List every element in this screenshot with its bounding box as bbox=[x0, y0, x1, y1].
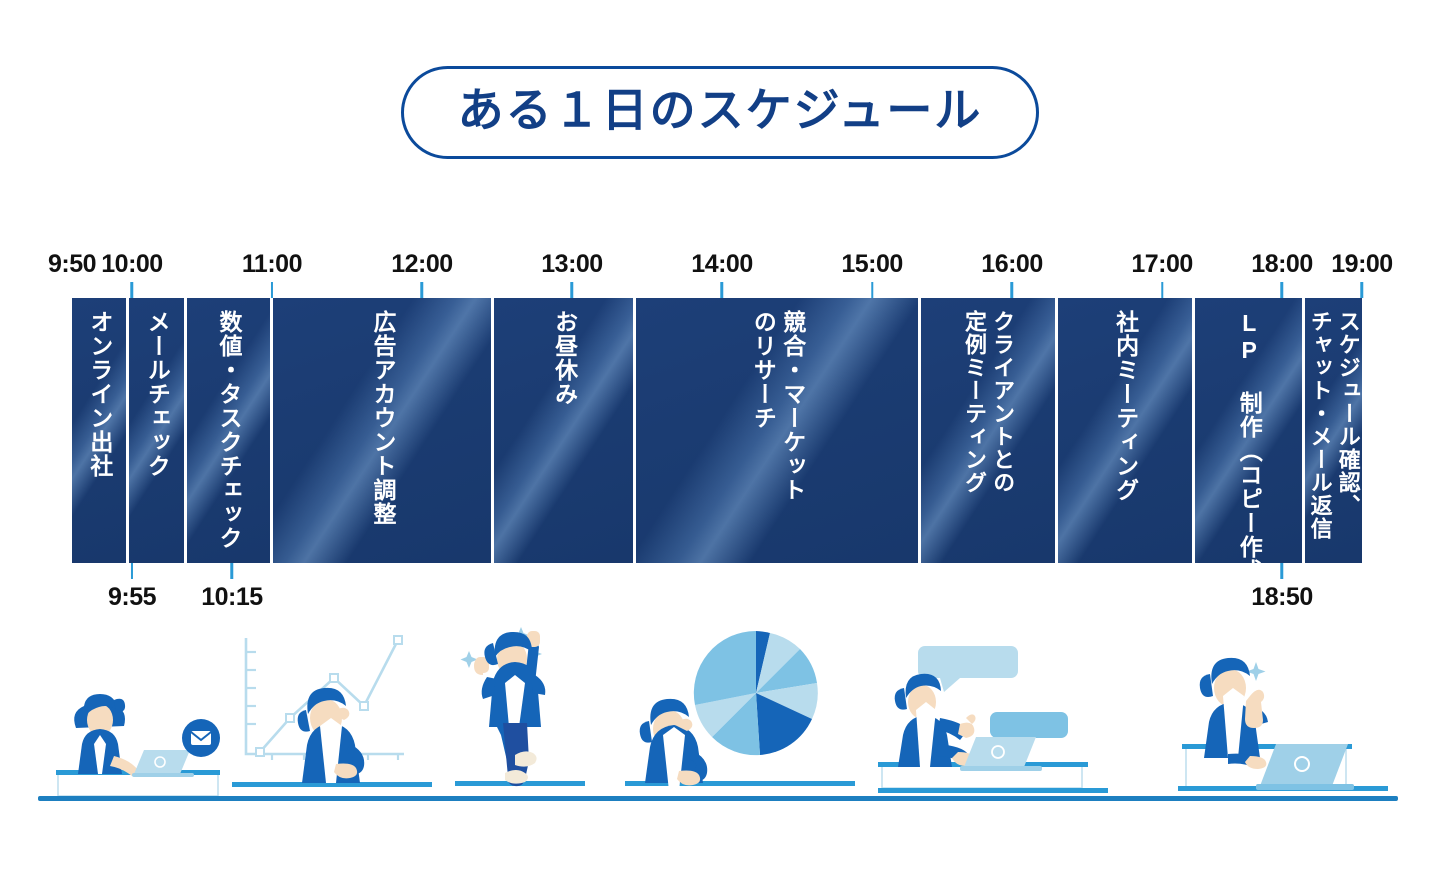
schedule-segment-ad-account[interactable]: 広告アカウント調整 bbox=[273, 298, 492, 563]
segment-label-line: スケジュール確認、 bbox=[1334, 310, 1362, 517]
schedule-segment-lunch-break[interactable]: お昼休み bbox=[494, 298, 633, 563]
segment-text-block: 競合・マーケットのリサーチ bbox=[748, 310, 807, 563]
schedule-segment-internal-meeting[interactable]: 社内ミーティング bbox=[1058, 298, 1192, 563]
time-label: 17:00 bbox=[1131, 250, 1192, 279]
schedule-segment-market-research[interactable]: 競合・マーケットのリサーチ bbox=[636, 298, 918, 563]
time-label: 9:55 bbox=[108, 583, 156, 612]
time-tick-9-50: 9:50 bbox=[48, 250, 96, 298]
segment-label-line: クライアントとの bbox=[988, 310, 1016, 494]
schedule-segment-client-meeting[interactable]: クライアントとの定例ミーティング bbox=[921, 298, 1055, 563]
time-tick-bottom-18-50: 18:50 bbox=[1251, 563, 1312, 612]
schedule-segment-task-check[interactable]: 数値・タスクチェック bbox=[187, 298, 270, 563]
time-label: 10:15 bbox=[201, 583, 262, 612]
illustration-strip bbox=[0, 628, 1440, 818]
tick-mark bbox=[131, 282, 134, 298]
tick-mark bbox=[1361, 282, 1364, 298]
segment-text-block: 社内ミーティング bbox=[1110, 310, 1139, 563]
person-with-line-chart bbox=[232, 626, 432, 796]
tick-mark bbox=[271, 282, 274, 298]
timeline-axis-top: 9:5010:0011:0012:0013:0014:0015:0016:001… bbox=[72, 240, 1362, 298]
segment-label-line: 数値・タスクチェック bbox=[214, 310, 243, 550]
person-at-laptop-with-mail-icon bbox=[48, 656, 248, 796]
tick-mark bbox=[1011, 282, 1014, 298]
tick-mark bbox=[421, 282, 424, 298]
schedule-timeline: 9:5010:0011:0012:0013:0014:0015:0016:001… bbox=[72, 240, 1362, 630]
time-label: 12:00 bbox=[391, 250, 452, 279]
time-label: 13:00 bbox=[541, 250, 602, 279]
segment-text-block: メールチェック bbox=[142, 310, 171, 563]
time-tick-bottom-9-55: 9:55 bbox=[108, 563, 156, 612]
time-tick-14-00: 14:00 bbox=[691, 250, 752, 298]
segment-text-block: 広告アカウント調整 bbox=[368, 310, 397, 563]
time-tick-17-00: 17:00 bbox=[1131, 250, 1192, 298]
person-at-laptop-with-chat-bubbles bbox=[878, 636, 1108, 796]
time-tick-16-00: 16:00 bbox=[981, 250, 1042, 298]
segment-text-block: スケジュール確認、チャット・メール返信 bbox=[1305, 310, 1361, 563]
time-tick-15-00: 15:00 bbox=[841, 250, 902, 298]
segment-label-line: お昼休み bbox=[549, 310, 578, 406]
page-title: ある１日のスケジュール bbox=[458, 85, 983, 136]
schedule-segment-mail-check[interactable]: メールチェック bbox=[129, 298, 183, 563]
schedule-segment-online-attendance[interactable]: オンライン出社 bbox=[72, 298, 126, 563]
segment-label-line: LP 制作（コピー作成） bbox=[1234, 310, 1263, 563]
tick-mark bbox=[571, 282, 574, 298]
time-tick-10-00: 10:00 bbox=[101, 250, 162, 298]
time-label: 18:50 bbox=[1251, 583, 1312, 612]
segment-label-line: オンライン出社 bbox=[84, 310, 113, 478]
time-label: 9:50 bbox=[48, 250, 96, 279]
time-tick-bottom-10-15: 10:15 bbox=[201, 563, 262, 612]
schedule-bar: オンライン出社メールチェック数値・タスクチェック広告アカウント調整お昼休み競合・… bbox=[72, 298, 1362, 563]
tick-mark bbox=[71, 282, 74, 298]
person-thinking-with-pie-chart bbox=[625, 621, 855, 796]
person-at-laptop-thumbs-up bbox=[1178, 636, 1388, 796]
segment-label-line: 競合・マーケット bbox=[777, 310, 806, 502]
time-tick-19-00: 19:00 bbox=[1331, 250, 1392, 298]
time-label: 19:00 bbox=[1331, 250, 1392, 279]
segment-text-block: お昼休み bbox=[549, 310, 578, 563]
time-tick-13-00: 13:00 bbox=[541, 250, 602, 298]
tick-mark bbox=[231, 563, 234, 579]
tick-mark bbox=[131, 563, 134, 579]
segment-label-line: 定例ミーティング bbox=[960, 310, 988, 494]
time-label: 18:00 bbox=[1251, 250, 1312, 279]
time-label: 15:00 bbox=[841, 250, 902, 279]
schedule-segment-lp-production[interactable]: LP 制作（コピー作成） bbox=[1195, 298, 1302, 563]
segment-text-block: 数値・タスクチェック bbox=[214, 310, 243, 563]
title-area: ある１日のスケジュール bbox=[0, 66, 1440, 159]
time-tick-18-00: 18:00 bbox=[1251, 250, 1312, 298]
time-label: 16:00 bbox=[981, 250, 1042, 279]
time-label: 14:00 bbox=[691, 250, 752, 279]
segment-label-line: のリサーチ bbox=[748, 310, 777, 430]
segment-label-line: 社内ミーティング bbox=[1110, 310, 1139, 502]
title-pill: ある１日のスケジュール bbox=[401, 66, 1040, 159]
time-label: 11:00 bbox=[242, 250, 302, 279]
segment-text-block: LP 制作（コピー作成） bbox=[1234, 310, 1263, 563]
timeline-axis-bottom: 9:5510:1518:50 bbox=[72, 563, 1362, 625]
segment-text-block: オンライン出社 bbox=[84, 310, 113, 563]
tick-mark bbox=[721, 282, 724, 298]
ground-line bbox=[38, 796, 1398, 801]
tick-mark bbox=[871, 282, 874, 298]
tick-mark bbox=[1281, 563, 1284, 579]
tick-mark bbox=[1281, 282, 1284, 298]
segment-text-block: クライアントとの定例ミーティング bbox=[960, 310, 1016, 563]
schedule-segment-schedule-mail[interactable]: スケジュール確認、チャット・メール返信 bbox=[1305, 298, 1362, 563]
time-label: 10:00 bbox=[101, 250, 162, 279]
segment-label-line: 広告アカウント調整 bbox=[368, 310, 397, 526]
time-tick-11-00: 11:00 bbox=[242, 250, 302, 298]
segment-label-line: チャット・メール返信 bbox=[1305, 310, 1333, 540]
person-celebrating-with-sparkles bbox=[455, 621, 585, 796]
segment-label-line: メールチェック bbox=[142, 310, 171, 478]
tick-mark bbox=[1161, 282, 1164, 298]
time-tick-12-00: 12:00 bbox=[391, 250, 452, 298]
